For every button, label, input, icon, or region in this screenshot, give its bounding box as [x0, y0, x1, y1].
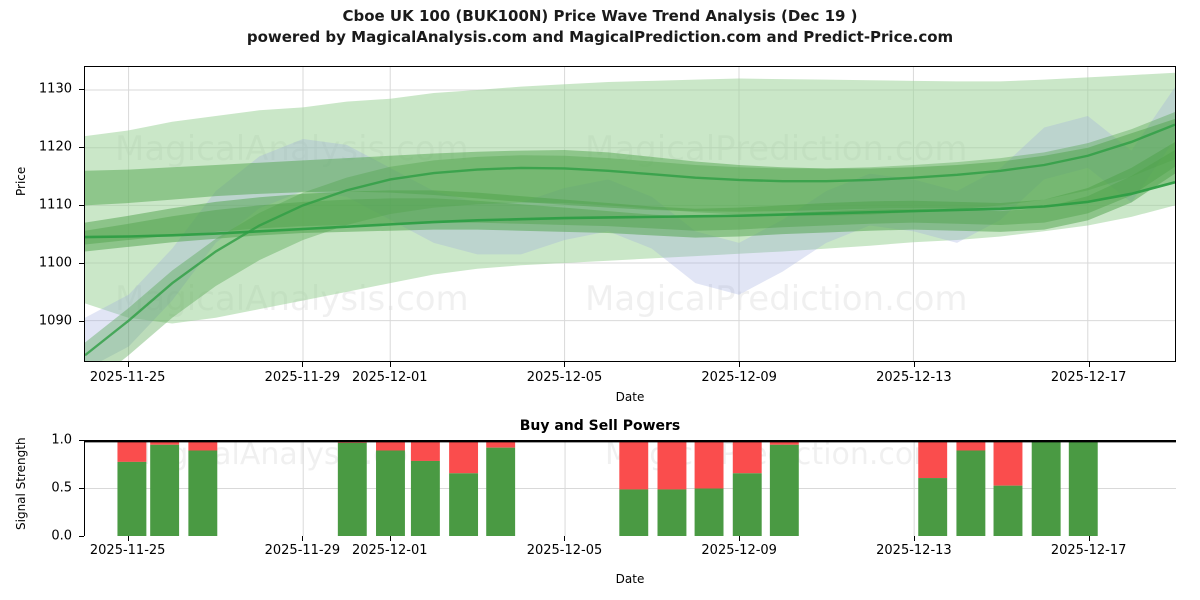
price-x-tick-mark [1089, 362, 1090, 367]
price-x-tick-label: 2025-12-13 [876, 370, 952, 385]
buy-power-bar [770, 445, 799, 536]
price-y-tick-label: 1100 [0, 256, 72, 271]
page-title: Cboe UK 100 (BUK100N) Price Wave Trend A… [0, 6, 1200, 48]
chart-page: Cboe UK 100 (BUK100N) Price Wave Trend A… [0, 0, 1200, 600]
buy-power-bar [449, 473, 478, 536]
price-x-tick-label: 2025-12-01 [352, 370, 428, 385]
sell-power-bar [695, 441, 724, 489]
price-y-tick-label: 1110 [0, 198, 72, 213]
sell-power-bar [117, 441, 146, 462]
buy-power-bar [411, 461, 440, 536]
buy-power-bar [1069, 441, 1098, 536]
signal-x-tick-label: 2025-12-09 [701, 543, 777, 558]
signal-x-tick-mark [1089, 536, 1090, 541]
signal-y-tick-label: 0.5 [0, 481, 72, 496]
sell-power-bar [733, 441, 762, 473]
sell-power-bar [994, 441, 1023, 486]
buy-power-bar [117, 462, 146, 536]
price-plot-area [85, 67, 1175, 361]
price-x-tick-label: 2025-12-17 [1051, 370, 1127, 385]
buy-power-bar [956, 451, 985, 537]
signal-x-tick-mark [914, 536, 915, 541]
price-x-tick-mark [302, 362, 303, 367]
sell-power-bar [918, 441, 947, 478]
buy-power-bar [486, 448, 515, 536]
price-x-tick-mark [739, 362, 740, 367]
sell-power-bar [619, 441, 648, 489]
buy-power-bar [188, 451, 217, 537]
signal-chart-title: Buy and Sell Powers [0, 418, 1200, 434]
signal-x-tick-label: 2025-12-17 [1051, 543, 1127, 558]
price-x-tick-mark [564, 362, 565, 367]
signal-x-tick-label: 2025-12-01 [352, 543, 428, 558]
buy-power-bar [658, 489, 687, 536]
buy-power-bar [994, 486, 1023, 536]
price-x-tick-label: 2025-12-09 [701, 370, 777, 385]
signal-plot-area [85, 441, 1176, 536]
signal-x-tick-label: 2025-12-13 [876, 543, 952, 558]
price-x-axis-title: Date [616, 390, 645, 404]
chart-title: Cboe UK 100 (BUK100N) Price Wave Trend A… [0, 6, 1200, 27]
sell-power-bar [188, 441, 217, 451]
price-x-tick-mark [390, 362, 391, 367]
signal-x-tick-mark [128, 536, 129, 541]
signal-y-tick-mark [79, 536, 84, 537]
buy-power-bar [376, 451, 405, 537]
signal-x-tick-mark [739, 536, 740, 541]
price-x-tick-label: 2025-12-05 [527, 370, 603, 385]
buy-sell-powers-chart: MagicalAnalysis.com MagicalPrediction.co… [84, 440, 1176, 536]
price-x-tick-label: 2025-11-25 [90, 370, 166, 385]
signal-x-tick-label: 2025-12-05 [527, 543, 603, 558]
buy-power-bar [1032, 441, 1061, 536]
price-x-tick-mark [914, 362, 915, 367]
price-wave-chart: MagicalAnalysis.com MagicalPrediction.co… [84, 66, 1176, 362]
chart-subtitle: powered by MagicalAnalysis.com and Magic… [0, 27, 1200, 48]
buy-power-bar [150, 445, 179, 536]
price-y-tick-label: 1120 [0, 140, 72, 155]
price-y-tick-label: 1090 [0, 314, 72, 329]
buy-power-bar [918, 478, 947, 536]
sell-power-bar [411, 441, 440, 461]
signal-x-tick-mark [564, 536, 565, 541]
signal-x-tick-mark [302, 536, 303, 541]
signal-y-tick-label: 1.0 [0, 433, 72, 448]
buy-power-bar [338, 443, 367, 536]
signal-x-axis-title: Date [616, 572, 645, 586]
buy-power-bar [695, 489, 724, 537]
price-x-tick-mark [128, 362, 129, 367]
sell-power-bar [956, 441, 985, 451]
signal-x-tick-label: 2025-11-29 [265, 543, 341, 558]
signal-y-tick-label: 0.0 [0, 529, 72, 544]
signal-x-tick-label: 2025-11-25 [90, 543, 166, 558]
price-y-tick-label: 1130 [0, 82, 72, 97]
sell-power-bar [449, 441, 478, 473]
price-axis-label: Price [14, 167, 28, 196]
sell-power-bar [658, 441, 687, 489]
sell-power-bar [376, 441, 405, 451]
buy-power-bar [619, 489, 648, 536]
price-x-tick-label: 2025-11-29 [265, 370, 341, 385]
signal-x-tick-mark [390, 536, 391, 541]
buy-power-bar [733, 473, 762, 536]
